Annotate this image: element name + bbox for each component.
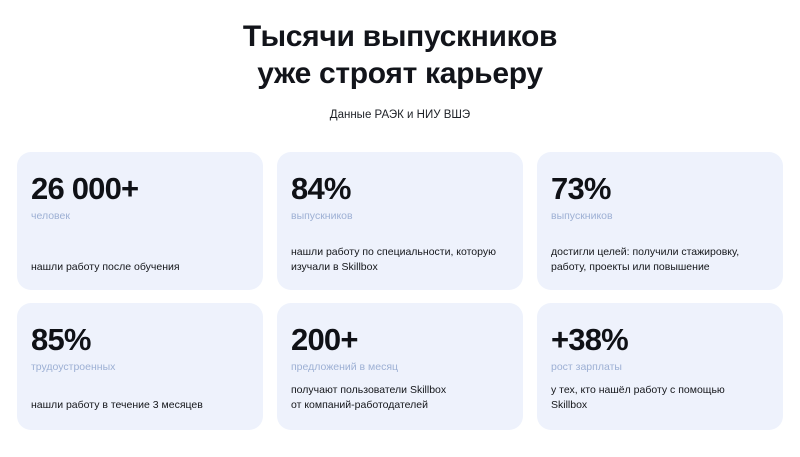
stat-description: нашли работу по специальности, которую и… (291, 245, 509, 274)
stat-label: выпускников (291, 210, 507, 223)
stat-card-salary-growth: +38% рост зарплаты у тех, кто нашёл рабо… (537, 303, 783, 430)
stats-grid: 26 000+ человек нашли работу после обуче… (17, 152, 783, 430)
stats-page: Тысячи выпускников уже строят карьеру Да… (0, 0, 800, 457)
stat-label: человек (31, 210, 247, 223)
page-subtitle-source: Данные РАЭК и НИУ ВШЭ (0, 108, 800, 122)
stat-value: 84% (291, 172, 507, 206)
stat-value: 200+ (291, 323, 507, 357)
stat-value: 85% (31, 323, 247, 357)
stat-card-offers-per-month: 200+ предложений в месяц получают пользо… (277, 303, 523, 430)
stat-description: нашли работу после обучения (31, 260, 249, 275)
page-header: Тысячи выпускников уже строят карьеру Да… (0, 0, 800, 122)
stat-description: у тех, кто нашёл работу с помощью Skillb… (551, 383, 769, 412)
page-title: Тысячи выпускников уже строят карьеру (0, 18, 800, 92)
stat-card-specialty-match: 84% выпускников нашли работу по специаль… (277, 152, 523, 290)
stat-label: предложений в месяц (291, 361, 507, 374)
stat-value: 26 000+ (31, 172, 247, 206)
stat-description: достигли целей: получили стажировку, раб… (551, 245, 769, 274)
stat-value: 73% (551, 172, 767, 206)
stat-card-graduates-employed: 26 000+ человек нашли работу после обуче… (17, 152, 263, 290)
stat-card-employed-three-months: 85% трудоустроенных нашли работу в течен… (17, 303, 263, 430)
stat-label: выпускников (551, 210, 767, 223)
stat-description: нашли работу в течение 3 месяцев (31, 398, 249, 413)
stat-value: +38% (551, 323, 767, 357)
stat-description: получают пользователи Skillbox от компан… (291, 383, 509, 412)
stat-label: трудоустроенных (31, 361, 247, 374)
stat-card-goals-achieved: 73% выпускников достигли целей: получили… (537, 152, 783, 290)
stat-label: рост зарплаты (551, 361, 767, 374)
